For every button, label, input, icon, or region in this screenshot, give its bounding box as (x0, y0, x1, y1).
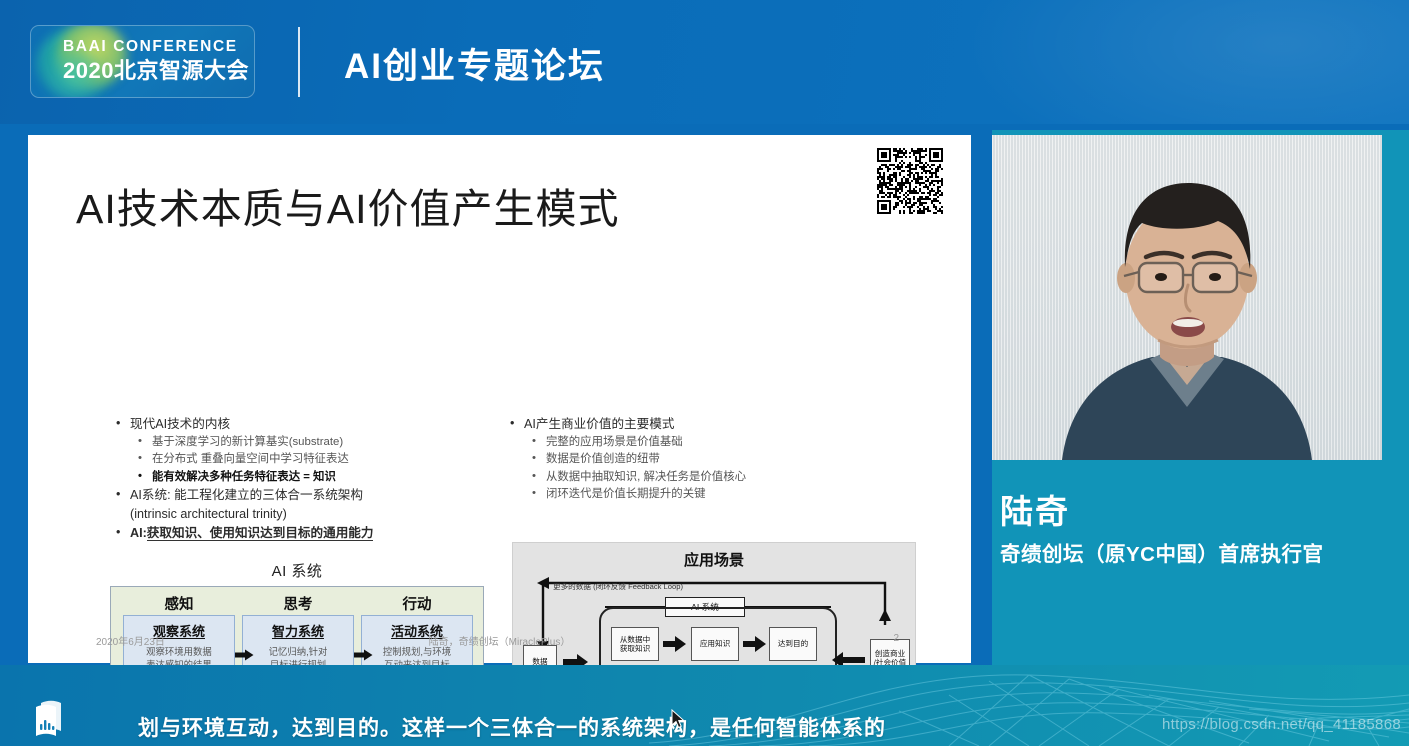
presentation-slide: AI技术本质与AI价值产生模式 现代AI技术的内核 基于深度学习的新计算基实(s… (28, 135, 971, 663)
bullet-item-highlight: AI:获取知识、使用知识达到目标的通用能力 (116, 524, 496, 543)
ai-system-diagram-title: AI 系统 (110, 560, 484, 581)
scenario-diagram-title: 应用场景 (513, 549, 915, 570)
bullet-item: 数据是价值创造的纽带 (510, 451, 910, 468)
speaker-video[interactable] (992, 135, 1382, 460)
bullet-list-left: 现代AI技术的内核 基于深度学习的新计算基实(substrate) 在分布式 重… (116, 415, 496, 544)
slide-attribution: 陆奇，奇绩创坛（MiraclePlus） (28, 633, 971, 648)
forum-title: AI创业专题论坛 (344, 38, 605, 89)
logo-line-conference: BAAI CONFERENCE (63, 37, 253, 56)
header-divider (298, 27, 300, 97)
bullet-item: 完整的应用场景是价值基础 (510, 434, 910, 451)
speaker-title: 奇绩创坛（原YC中国）首席执行官 (1000, 537, 1323, 567)
bullet-item: AI产生商业价值的主要模式 (510, 415, 910, 434)
speaker-panel: 陆奇 奇绩创坛（原YC中国）首席执行官 (992, 130, 1409, 665)
mouse-pointer-icon (671, 709, 685, 729)
logo-text-group: BAAI CONFERENCE 2020北京智源大会 (63, 37, 253, 84)
conference-header: BAAI CONFERENCE 2020北京智源大会 AI创业专题论坛 (0, 0, 1409, 124)
slide-title: AI技术本质与AI价值产生模式 (76, 175, 619, 235)
speaker-name: 陆奇 (1000, 485, 1070, 533)
bullet-label: AI: (130, 526, 147, 540)
book-audio-icon[interactable] (33, 698, 67, 738)
watermark-url: https://blog.csdn.net/qq_41185868 (1162, 716, 1401, 733)
bullet-item: AI系统: 能工程化建立的三体合一系统架构 (116, 486, 496, 505)
baai-conference-logo: BAAI CONFERENCE 2020北京智源大会 (30, 25, 255, 98)
qr-code-icon (877, 148, 943, 214)
bullet-continuation: (intrinsic architectural trinity) (116, 505, 496, 524)
speaker-portrait (992, 135, 1382, 460)
bullet-item: 基于深度学习的新计算基实(substrate) (116, 434, 496, 451)
slide-page-number: 2 (893, 633, 899, 644)
header-sheen-decoration (909, 0, 1409, 124)
feedback-loop-label: 更多的数据 (闭环反馈 Feedback Loop) (553, 581, 683, 592)
subtitle-text: 划与环境互动，达到目的。这样一个三体合一的系统架构，是任何智能体系的 (138, 712, 886, 742)
bullet-item: 现代AI技术的内核 (116, 415, 496, 434)
slide-footer: 2020年6月23日 陆奇，奇绩创坛（MiraclePlus） 2 (28, 633, 971, 647)
bullet-item: 闭环迭代是价值长期提升的关键 (510, 486, 910, 503)
bullet-item: 从数据中抽取知识, 解决任务是价值核心 (510, 469, 910, 486)
bullet-item: 能有效解决多种任务特征表达 = 知识 (116, 469, 496, 486)
bullet-underlined-text: 获取知识、使用知识达到目标的通用能力 (147, 526, 374, 541)
bullet-list-right: AI产生商业价值的主要模式 完整的应用场景是价值基础 数据是价值创造的纽带 从数… (510, 415, 910, 503)
logo-line-chinese: 2020北京智源大会 (63, 57, 253, 84)
bullet-item: 在分布式 重叠向量空间中学习特征表达 (116, 451, 496, 468)
